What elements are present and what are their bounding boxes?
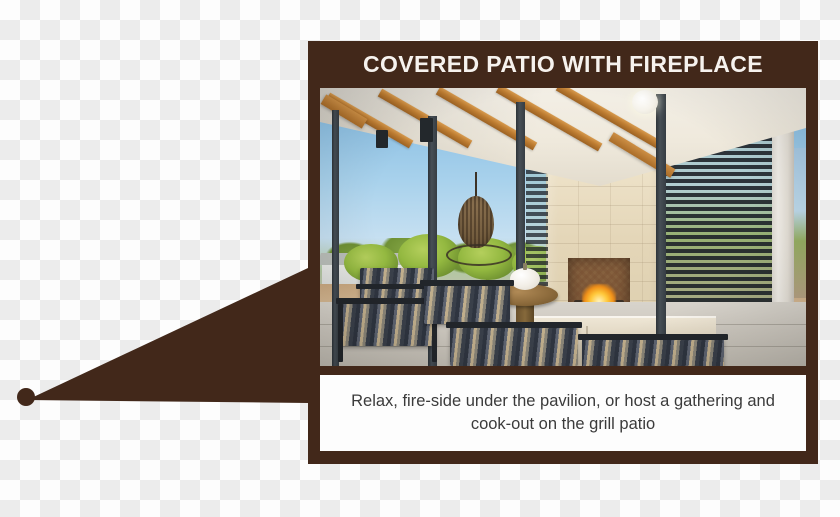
callout-anchor-dot (17, 388, 35, 406)
egg-chair-rope (475, 172, 477, 198)
lounge-chair-left (340, 300, 436, 346)
lounge-chair-center (424, 284, 510, 324)
chair-frame-bar (578, 334, 728, 340)
caption-text: Relax, fire-side under the pavilion, or … (338, 390, 788, 436)
lounge-chair-front-center (450, 326, 578, 366)
white-pumpkin (510, 268, 540, 290)
chair-frame-bar (420, 280, 514, 286)
card-title: COVERED PATIO WITH FIREPLACE (308, 41, 818, 88)
louver-backdrop-far-right (794, 148, 806, 298)
steel-bracket (376, 130, 388, 148)
chair-frame-leg (338, 304, 343, 362)
caption-box: Relax, fire-side under the pavilion, or … (320, 375, 806, 451)
patio-photo-scene (320, 88, 806, 366)
chair-frame-bar (446, 322, 582, 328)
hanging-egg-chair (458, 196, 494, 248)
patio-photo (320, 88, 806, 366)
pointer-triangle (27, 268, 308, 403)
egg-chair-base-ring (446, 244, 512, 266)
steel-post-right (656, 94, 666, 342)
callout-card: COVERED PATIO WITH FIREPLACE (308, 41, 818, 464)
steel-bracket (420, 118, 433, 142)
pendant-light (632, 90, 658, 114)
screenshot-canvas: COVERED PATIO WITH FIREPLACE (0, 0, 840, 517)
lounge-chair-front-right (582, 338, 724, 366)
